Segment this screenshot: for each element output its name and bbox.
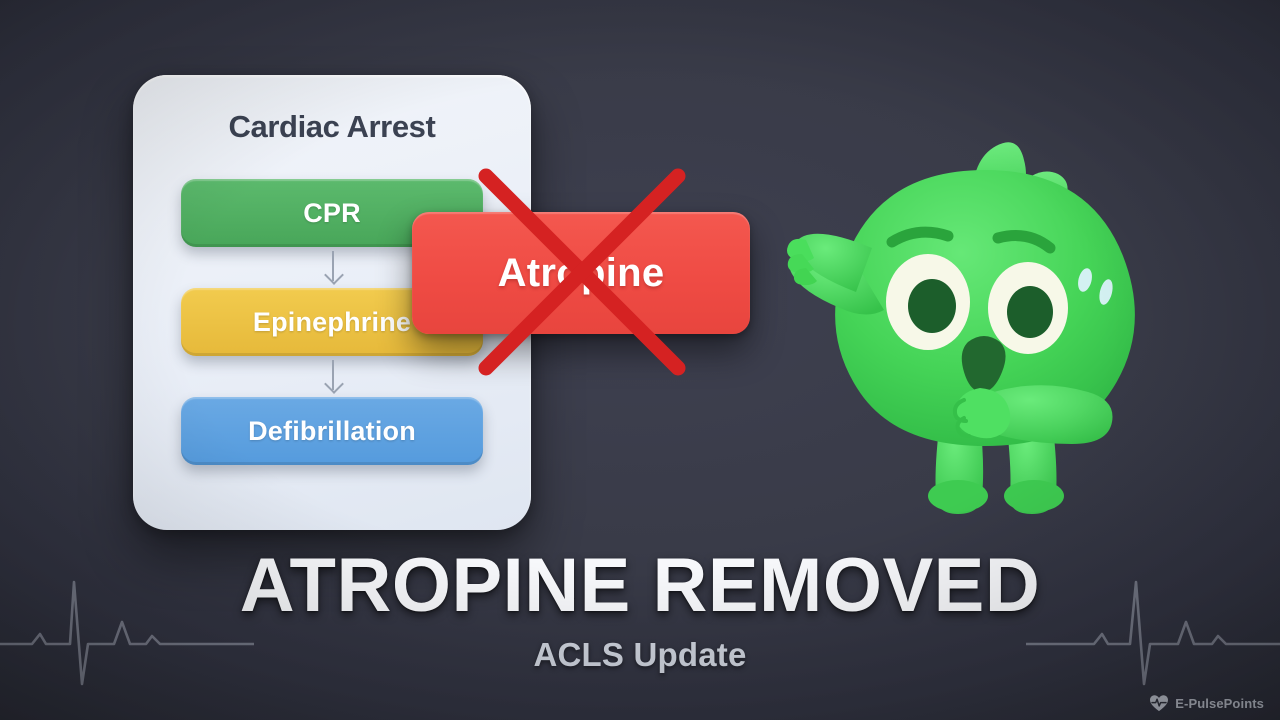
flow-panel-title: Cardiac Arrest: [133, 109, 531, 145]
headline-block: ATROPINE REMOVED ACLS Update: [0, 548, 1280, 674]
atropine-label: Atropine: [498, 251, 665, 296]
brand-name: E-PulsePoints: [1175, 696, 1264, 711]
atropine-card[interactable]: Atropine: [412, 212, 750, 334]
arrow-down-icon: [332, 360, 334, 390]
page-subtitle: ACLS Update: [0, 636, 1280, 674]
arrow-down-icon: [332, 251, 334, 281]
flow-step-label: Defibrillation: [248, 416, 416, 447]
page-title: ATROPINE REMOVED: [0, 548, 1280, 624]
flow-step-label: Epinephrine: [253, 307, 411, 338]
heart-pulse-icon: [1149, 694, 1169, 712]
flow-step-defibrillation[interactable]: Defibrillation: [181, 397, 483, 465]
poster-stage: Cardiac Arrest CPR Epinephrine Defibrill…: [0, 0, 1280, 720]
worried-green-blob-mascot: [780, 130, 1190, 520]
mascot-hand-on-chin: [955, 385, 1113, 444]
brand-watermark: E-PulsePoints: [1149, 694, 1264, 712]
flow-step-label: CPR: [303, 198, 361, 229]
